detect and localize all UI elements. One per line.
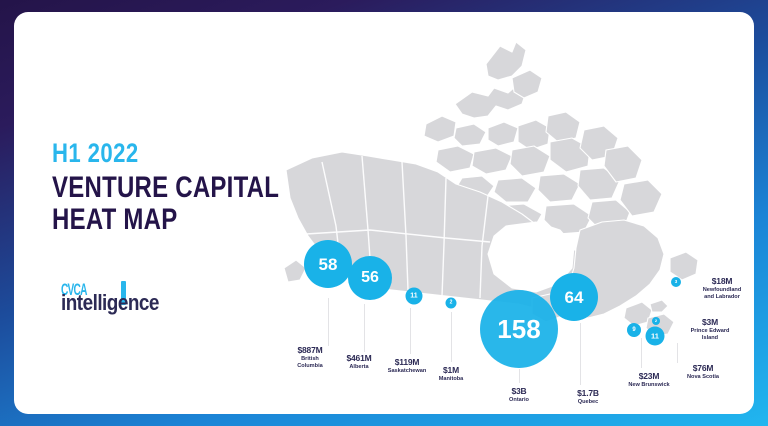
callout-province-on: Ontario	[509, 397, 529, 404]
callout-province-pe: Prince Edward Island	[691, 328, 730, 342]
bubble-british-columbia[interactable]: 58	[304, 240, 352, 288]
callout-province-ab: Alberta	[347, 364, 372, 371]
callout-province-nl: Newfoundland and Labrador	[703, 287, 742, 301]
callout-amount-nb: $23M	[628, 372, 669, 381]
bubble-value-on: 158	[497, 316, 540, 342]
callout-province-ns: Nova Scotia	[687, 374, 719, 381]
callout-amount-nl: $18M	[703, 277, 742, 286]
callout-province-sk: Saskatchewan	[388, 368, 427, 375]
callout-ontario: $3B Ontario	[509, 387, 529, 404]
infographic-card: H1 2022 VENTURE CAPITAL HEAT MAP CVCA in…	[14, 12, 754, 414]
title-line-1: VENTURE CAPITAL	[52, 171, 279, 204]
leader-line-nb	[641, 338, 642, 368]
bubble-value-pe: 2	[655, 319, 657, 323]
bubble-saskatchewan[interactable]: 11	[406, 288, 423, 305]
callout-amount-bc: $887M	[297, 346, 322, 355]
leader-line-mb	[451, 312, 452, 362]
cvca-intelligence-logo: CVCA intelligence	[61, 280, 231, 314]
bubble-value-nl: 3	[675, 280, 678, 285]
callout-province-nb: New Brunswick	[628, 382, 669, 389]
bubble-value-mb: 2	[450, 301, 453, 306]
callout-quebec: $1.7B Quebec	[577, 389, 599, 406]
leader-line-sk	[410, 308, 411, 354]
callout-province-mb: Manitoba	[439, 376, 464, 383]
bubble-value-sk: 11	[410, 293, 417, 300]
page-title: VENTURE CAPITAL HEAT MAP	[52, 172, 252, 237]
callout-amount-mb: $1M	[439, 366, 464, 375]
bubble-nova-scotia[interactable]: 11	[646, 327, 665, 346]
bubble-value-nb: 9	[632, 327, 635, 333]
bubble-manitoba[interactable]: 2	[446, 298, 457, 309]
callout-saskatchewan: $119M Saskatchewan	[388, 358, 427, 375]
title-line-2: HEAT MAP	[52, 204, 252, 236]
callout-newfoundland-labrador: $18M Newfoundland and Labrador	[703, 277, 742, 301]
callout-amount-sk: $119M	[388, 358, 427, 367]
callout-amount-qc: $1.7B	[577, 389, 599, 398]
bubble-value-ab: 56	[361, 270, 379, 286]
callout-british-columbia: $887M British Columbia	[297, 346, 322, 370]
leader-line-bc	[328, 298, 329, 346]
callout-amount-on: $3B	[509, 387, 529, 396]
bubble-newfoundland-labrador[interactable]: 3	[671, 277, 681, 287]
bubble-value-ns: 11	[651, 332, 659, 340]
leader-line-qc	[580, 323, 581, 385]
leader-line-ab	[364, 304, 365, 352]
bubble-quebec[interactable]: 64	[550, 273, 598, 321]
bubble-new-brunswick[interactable]: 9	[627, 323, 641, 337]
bubble-value-qc: 64	[565, 289, 584, 306]
callout-prince-edward-island: $3M Prince Edward Island	[691, 318, 730, 342]
bubble-ontario[interactable]: 158	[480, 290, 558, 368]
callout-manitoba: $1M Manitoba	[439, 366, 464, 383]
leader-line-on	[519, 369, 520, 383]
bubble-prince-edward-island[interactable]: 2	[652, 317, 660, 325]
callout-province-bc: British Columbia	[297, 356, 322, 370]
callout-new-brunswick: $23M New Brunswick	[628, 372, 669, 389]
callout-nova-scotia: $76M Nova Scotia	[687, 364, 719, 381]
bubble-value-bc: 58	[319, 256, 338, 273]
bubble-alberta[interactable]: 56	[348, 256, 392, 300]
leader-line-ns	[677, 343, 678, 363]
callout-amount-ab: $461M	[347, 354, 372, 363]
logo-intelligence-text: intelligence	[61, 290, 159, 316]
callout-amount-ns: $76M	[687, 364, 719, 373]
callout-alberta: $461M Alberta	[347, 354, 372, 371]
callout-amount-pe: $3M	[691, 318, 730, 327]
callout-province-qc: Quebec	[577, 399, 599, 406]
title-eyebrow: H1 2022	[52, 140, 257, 167]
infographic-canvas: H1 2022 VENTURE CAPITAL HEAT MAP CVCA in…	[0, 0, 768, 426]
